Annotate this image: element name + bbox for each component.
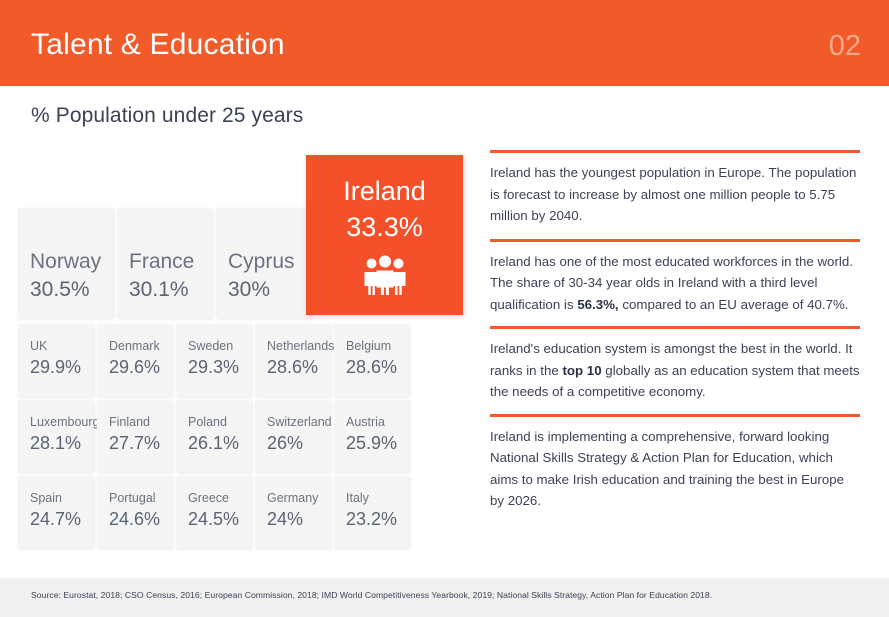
tile-greece[interactable]: Greece24.5% [176, 476, 251, 548]
country-grid: Ireland 33.3% Norway30.5%France30.1%Cypr… [18, 150, 468, 560]
tile-country-value: 28.6% [346, 357, 397, 378]
tile-country-name: Cyprus [228, 250, 295, 274]
tile-country-value: 24.6% [109, 509, 160, 530]
page-number: 02 [829, 28, 861, 64]
tile-switzerland[interactable]: Switzerland26% [255, 400, 330, 472]
tile-country-name: Luxembourg [30, 415, 100, 429]
tile-country-name: Switzerland [267, 415, 332, 429]
group-people-icon [306, 255, 463, 295]
tile-country-value: 28.1% [30, 433, 81, 454]
tile-country-name: Sweden [188, 339, 233, 353]
tile-italy[interactable]: Italy23.2% [334, 476, 409, 548]
fact-text: Ireland's education system is amongst th… [490, 329, 860, 414]
tile-country-value: 28.6% [267, 357, 318, 378]
fact-emphasis: top 10 [562, 363, 601, 378]
fact-run: Ireland has the youngest population in E… [490, 165, 856, 223]
tile-ireland-name: Ireland [306, 176, 463, 207]
tile-germany[interactable]: Germany24% [255, 476, 330, 548]
fact-item: Ireland has the youngest population in E… [490, 150, 860, 239]
fact-text: Ireland is implementing a comprehensive,… [490, 417, 860, 512]
fact-item: Ireland has one of the most educated wor… [490, 239, 860, 327]
tile-country-name: Denmark [109, 339, 160, 353]
tile-poland[interactable]: Poland26.1% [176, 400, 251, 472]
tile-country-name: France [129, 250, 194, 274]
tile-luxembourg[interactable]: Luxembourg28.1% [18, 400, 93, 472]
tile-country-value: 29.6% [109, 357, 160, 378]
tile-country-name: Norway [30, 250, 101, 274]
tile-cyprus[interactable]: Cyprus30% [216, 208, 311, 318]
tile-country-name: Spain [30, 491, 62, 505]
tile-country-value: 29.9% [30, 357, 81, 378]
tile-austria[interactable]: Austria25.9% [334, 400, 409, 472]
tile-ireland-value: 33.3% [306, 212, 463, 243]
tile-country-value: 30.5% [30, 278, 90, 302]
tile-country-name: Netherlands [267, 339, 334, 353]
tile-country-name: Greece [188, 491, 229, 505]
facts-column: Ireland has the youngest population in E… [490, 150, 860, 512]
tile-country-name: Austria [346, 415, 385, 429]
footer-source-text: Source: Eurostat, 2018; CSO Census, 2016… [31, 590, 712, 600]
tile-country-name: Belgium [346, 339, 391, 353]
tile-country-name: Finland [109, 415, 150, 429]
page-header: Talent & Education 02 [0, 0, 889, 86]
tile-country-name: UK [30, 339, 47, 353]
tile-denmark[interactable]: Denmark29.6% [97, 324, 172, 396]
tile-country-name: Portugal [109, 491, 156, 505]
tile-country-name: Poland [188, 415, 227, 429]
tile-portugal[interactable]: Portugal24.6% [97, 476, 172, 548]
tile-spain[interactable]: Spain24.7% [18, 476, 93, 548]
fact-text: Ireland has the youngest population in E… [490, 153, 860, 239]
tile-country-value: 29.3% [188, 357, 239, 378]
fact-text: Ireland has one of the most educated wor… [490, 242, 860, 327]
tile-ireland-highlight[interactable]: Ireland 33.3% [306, 155, 463, 315]
tile-country-name: Germany [267, 491, 318, 505]
tile-country-value: 30% [228, 278, 270, 302]
page-footer: Source: Eurostat, 2018; CSO Census, 2016… [0, 578, 889, 617]
section-title: % Population under 25 years [31, 104, 303, 128]
tile-country-value: 30.1% [129, 278, 189, 302]
tile-country-value: 25.9% [346, 433, 397, 454]
tile-country-value: 27.7% [109, 433, 160, 454]
tile-country-value: 24% [267, 509, 303, 530]
tile-country-value: 26% [267, 433, 303, 454]
fact-item: Ireland's education system is amongst th… [490, 326, 860, 414]
tile-country-name: Italy [346, 491, 369, 505]
tile-country-value: 26.1% [188, 433, 239, 454]
fact-run: compared to an EU average of 40.7%. [619, 297, 849, 312]
tile-finland[interactable]: Finland27.7% [97, 400, 172, 472]
tile-sweden[interactable]: Sweden29.3% [176, 324, 251, 396]
fact-run: Ireland is implementing a comprehensive,… [490, 429, 844, 509]
tile-country-value: 23.2% [346, 509, 397, 530]
tile-uk[interactable]: UK29.9% [18, 324, 93, 396]
fact-emphasis: 56.3%, [577, 297, 618, 312]
tile-france[interactable]: France30.1% [117, 208, 212, 318]
tile-belgium[interactable]: Belgium28.6% [334, 324, 409, 396]
tile-norway[interactable]: Norway30.5% [18, 208, 113, 318]
tile-country-value: 24.7% [30, 509, 81, 530]
tile-netherlands[interactable]: Netherlands28.6% [255, 324, 330, 396]
page-title: Talent & Education [31, 26, 285, 64]
tile-country-value: 24.5% [188, 509, 239, 530]
fact-item: Ireland is implementing a comprehensive,… [490, 414, 860, 512]
